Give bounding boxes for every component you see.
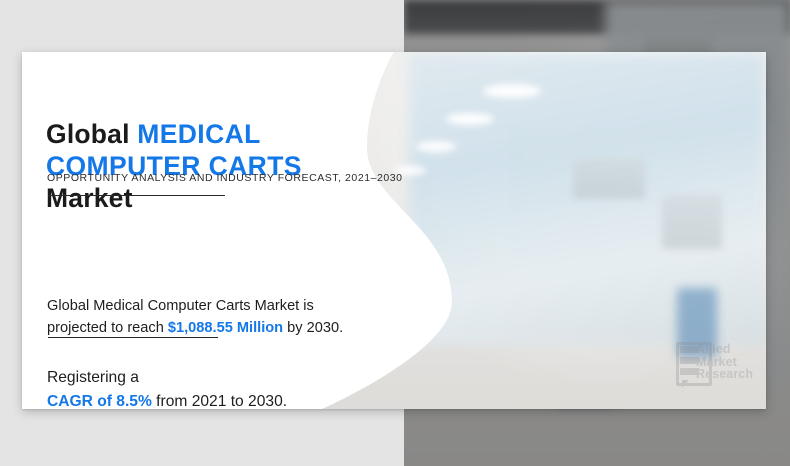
cagr-statement: Registering aCAGR of 8.5% from 2021 to 2… — [47, 366, 367, 409]
content-card: Global MEDICAL COMPUTER CARTS Market OPP… — [22, 52, 766, 409]
infographic-banner: Global MEDICAL COMPUTER CARTS Market OPP… — [0, 0, 790, 466]
title-trail: Market — [46, 183, 133, 213]
cagr-after: from 2021 to 2030. — [152, 393, 287, 409]
page-title: Global MEDICAL COMPUTER CARTS Market — [46, 118, 356, 214]
divider-top — [48, 195, 225, 196]
subtitle: OPPORTUNITY ANALYSIS AND INDUSTRY FORECA… — [47, 172, 377, 184]
wall-panel — [662, 195, 722, 249]
photo-alt-text: Medical computer cart with laptop, barco… — [0, 0, 1, 1]
market-value-statement: Global Medical Computer Carts Market is … — [47, 295, 367, 339]
statement-after: by 2030. — [283, 320, 343, 336]
market-value-highlight: $1,088.55 Million — [168, 320, 283, 336]
ceiling-light-icon — [446, 113, 494, 125]
cagr-highlight: CAGR of 8.5% — [47, 393, 152, 409]
cagr-lead: Registering a — [47, 369, 139, 386]
logo-line-1: Allied — [696, 343, 753, 356]
text-column — [46, 52, 376, 409]
wall-panel — [573, 159, 645, 199]
divider-middle — [48, 337, 218, 338]
logo-line-3: Research — [696, 368, 753, 381]
logo-text: Allied Market Research — [696, 343, 753, 381]
title-lead: Global — [46, 119, 137, 149]
allied-market-research-logo: Allied Market Research — [676, 342, 768, 394]
